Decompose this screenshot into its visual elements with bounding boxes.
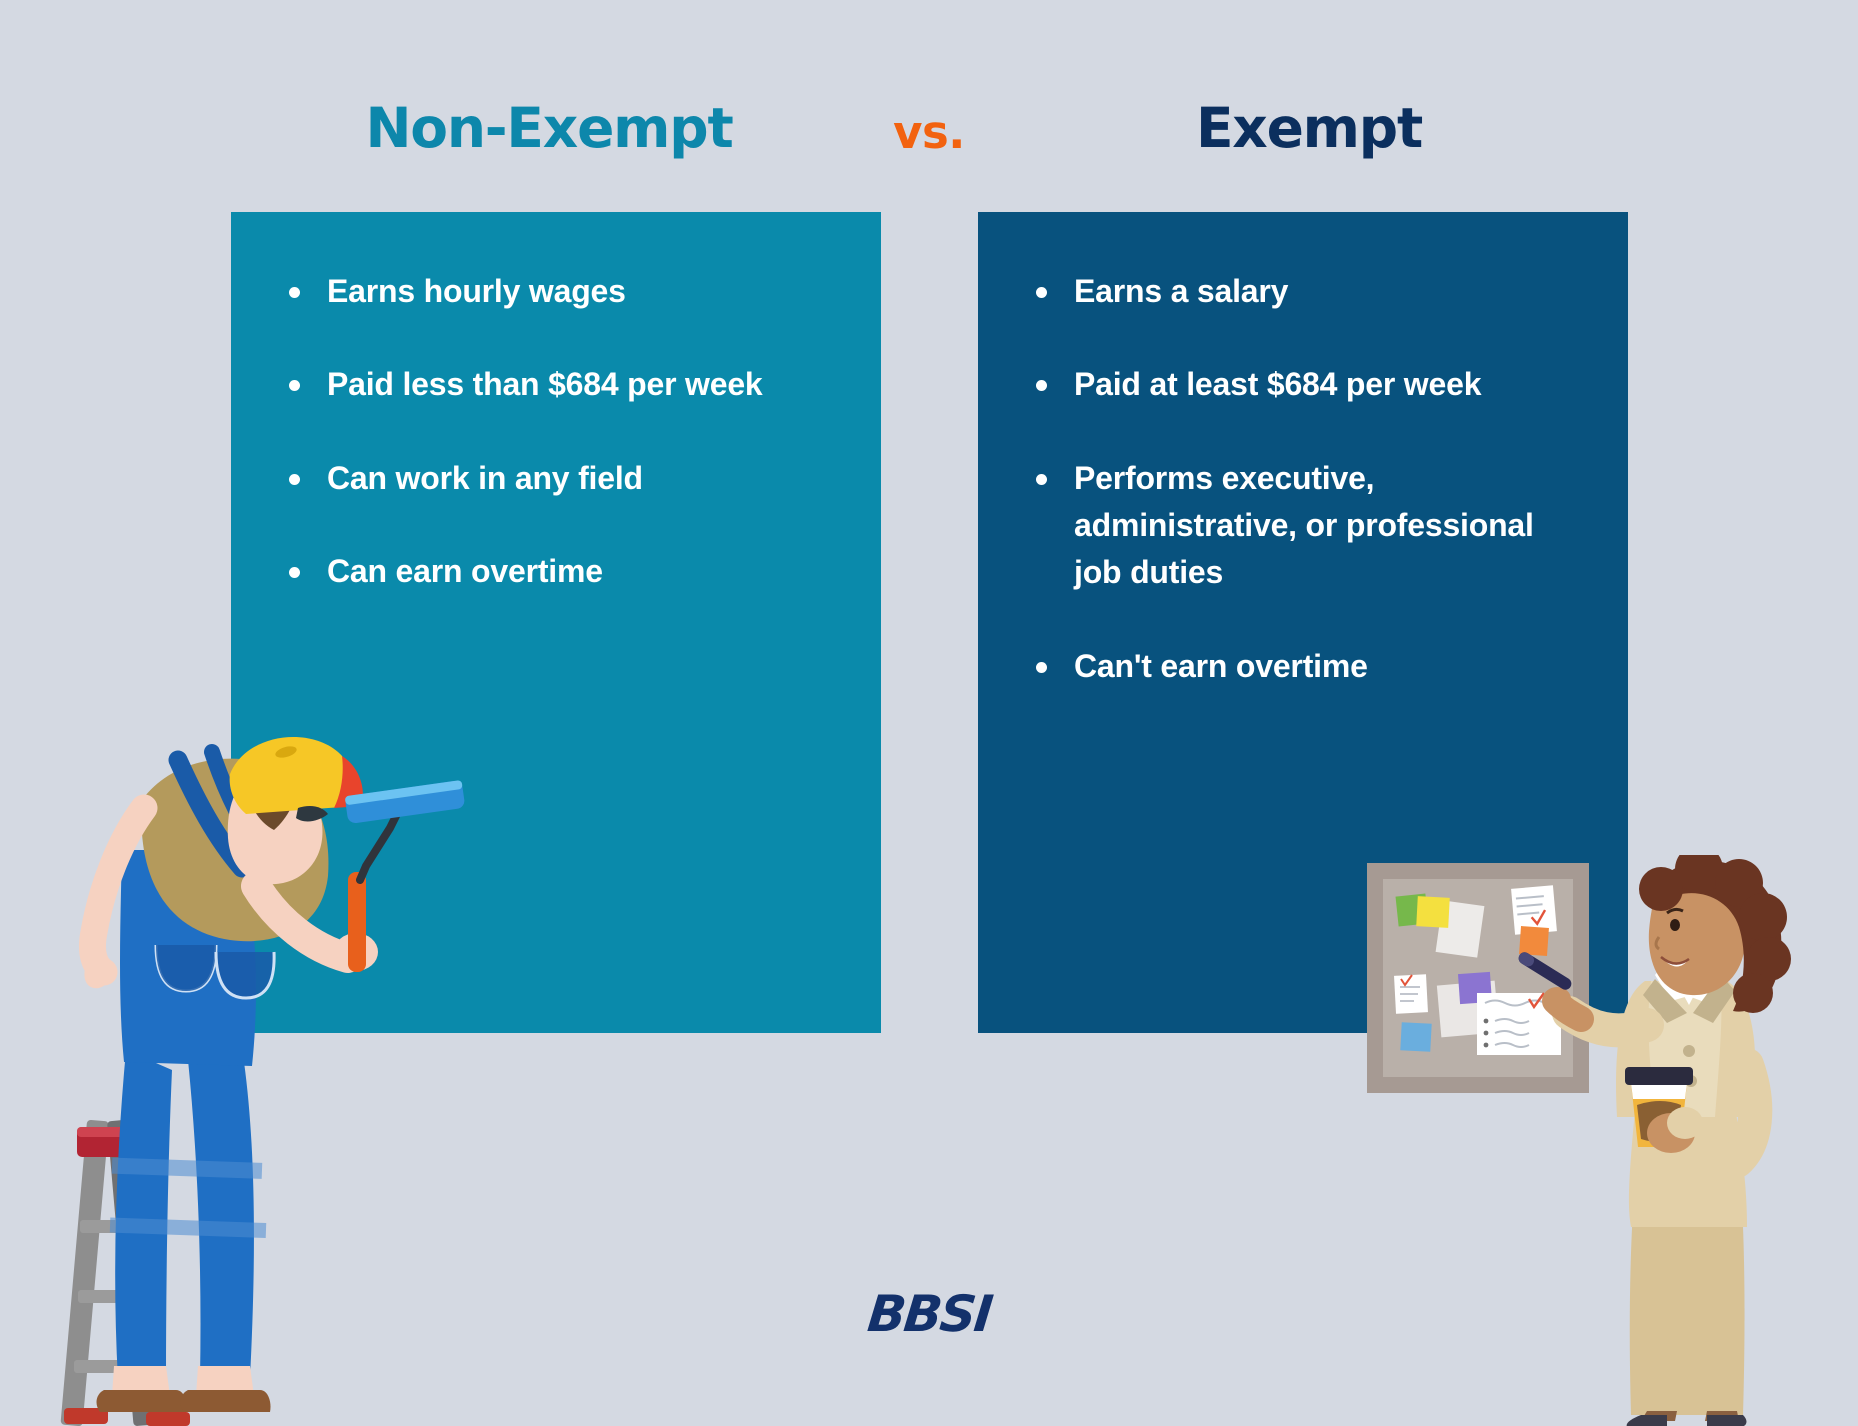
list-item: Performs executive, administrative, or p… bbox=[1030, 455, 1586, 597]
list-item-label: Can't earn overtime bbox=[1074, 648, 1368, 684]
list-item-label: Paid at least $684 per week bbox=[1074, 366, 1481, 402]
bullet-dot-icon bbox=[289, 380, 300, 391]
list-item: Earns a salary bbox=[1030, 268, 1586, 315]
list-item: Paid at least $684 per week bbox=[1030, 361, 1586, 408]
painter-head bbox=[228, 737, 363, 884]
list-item: Can earn overtime bbox=[283, 548, 839, 595]
bbsi-logo-text: BBSI bbox=[865, 1285, 994, 1343]
bullet-dot-icon bbox=[1036, 380, 1047, 391]
bullet-dot-icon bbox=[289, 567, 300, 578]
bullet-dot-icon bbox=[1036, 662, 1047, 673]
list-item: Paid less than $684 per week bbox=[283, 361, 839, 408]
heading-exempt: Exempt bbox=[1029, 96, 1589, 160]
heading-non-exempt: Non-Exempt bbox=[269, 96, 829, 160]
list-item-label: Earns hourly wages bbox=[327, 273, 626, 309]
bullet-dot-icon bbox=[1036, 287, 1047, 298]
bullet-dot-icon bbox=[1036, 474, 1047, 485]
list-item-label: Performs executive, administrative, or p… bbox=[1074, 460, 1534, 591]
list-item-label: Paid less than $684 per week bbox=[327, 366, 763, 402]
painter-legs bbox=[97, 1050, 271, 1412]
infographic-canvas: Non-Exempt vs. Exempt Earns hourly wages… bbox=[0, 0, 1858, 1426]
comparison-header: Non-Exempt vs. Exempt bbox=[0, 88, 1858, 168]
bullet-dot-icon bbox=[289, 287, 300, 298]
heading-vs: vs. bbox=[829, 106, 1029, 159]
list-item-label: Earns a salary bbox=[1074, 273, 1288, 309]
non-exempt-bullet-list: Earns hourly wages Paid less than $684 p… bbox=[231, 212, 881, 595]
list-item-label: Can earn overtime bbox=[327, 553, 603, 589]
list-item: Earns hourly wages bbox=[283, 268, 839, 315]
list-item: Can't earn overtime bbox=[1030, 643, 1586, 690]
list-item: Can work in any field bbox=[283, 455, 839, 502]
exempt-bullet-list: Earns a salary Paid at least $684 per we… bbox=[978, 212, 1628, 690]
list-item-label: Can work in any field bbox=[327, 460, 643, 496]
bullet-dot-icon bbox=[289, 474, 300, 485]
bbsi-logo: BBSI bbox=[0, 1285, 1858, 1343]
paint-roller bbox=[345, 780, 466, 972]
